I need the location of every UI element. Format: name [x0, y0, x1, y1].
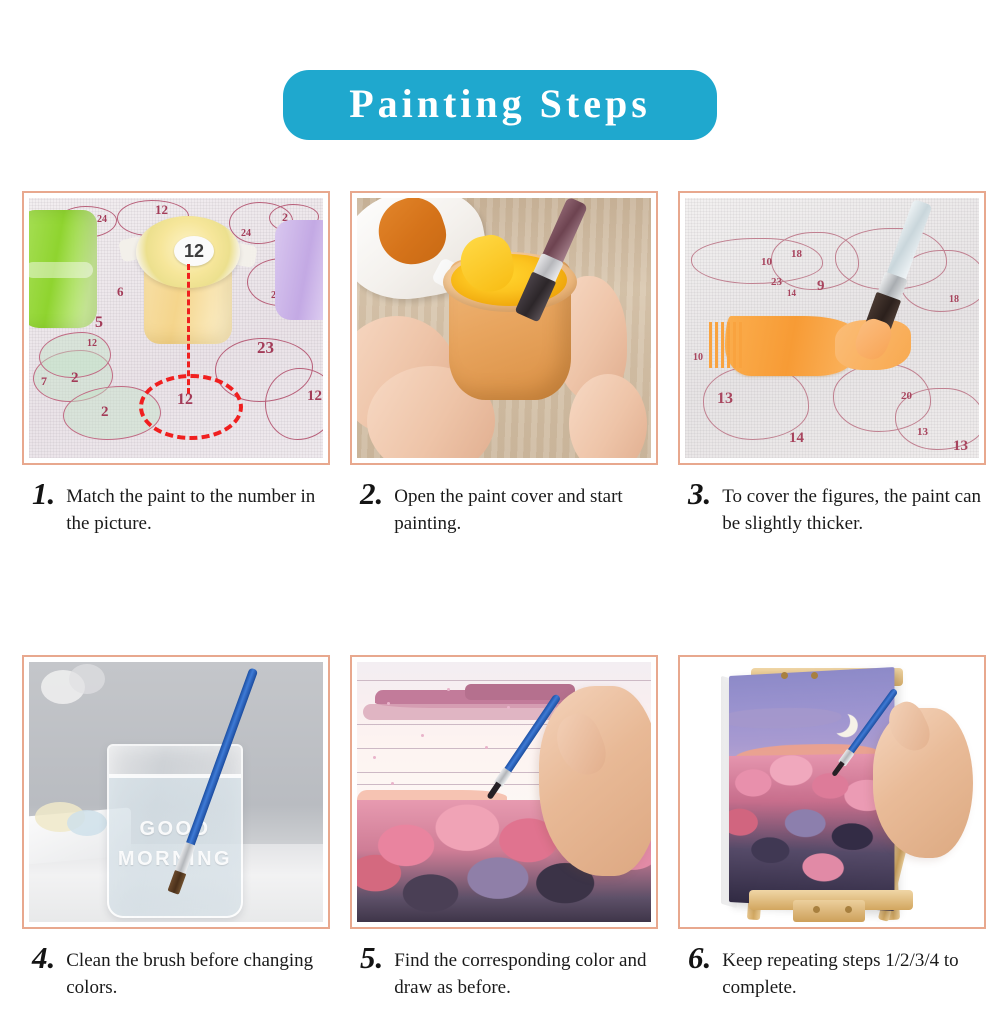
- painted-cherry-blossoms: [729, 753, 894, 911]
- canvas-number: 18: [791, 248, 802, 260]
- step-4-image: GOOD MORNING: [29, 662, 323, 922]
- step-4-photo-frame: GOOD MORNING: [22, 655, 330, 929]
- highlighted-canvas-number: 12: [177, 391, 193, 409]
- step-1-photo-frame: 12 24 2 7 6 24 5 23 12 2 7 2 25 12: [22, 191, 330, 465]
- number-marker-dot: [373, 756, 376, 759]
- step-1-text: Match the paint to the number in the pic…: [66, 481, 328, 537]
- step-card-2: 2. Open the paint cover and start painti…: [350, 191, 658, 560]
- canvas-number: 13: [717, 390, 733, 408]
- canvas-number: 23: [771, 276, 782, 288]
- steps-grid: 12 24 2 7 6 24 5 23 12 2 7 2 25 12: [22, 191, 986, 1024]
- step-6-number: 6.: [688, 945, 722, 971]
- step-2-number: 2.: [360, 481, 394, 507]
- step-card-6: 6. Keep repeating steps 1/2/3/4 to compl…: [678, 655, 986, 1024]
- easel-screw: [845, 906, 852, 913]
- step-6-text: Keep repeating steps 1/2/3/4 to complete…: [722, 945, 984, 1001]
- brush-bristles: [831, 761, 844, 777]
- step-6-caption: 6. Keep repeating steps 1/2/3/4 to compl…: [678, 929, 986, 1024]
- step-4-text: Clean the brush before changing colors.: [66, 945, 328, 1001]
- canvas-number: 2: [71, 370, 79, 387]
- number-marker-dot: [387, 702, 390, 705]
- number-marker-dot: [447, 688, 450, 691]
- step-4-caption: 4. Clean the brush before changing color…: [22, 929, 330, 1024]
- canvas-number: 12: [87, 338, 97, 349]
- number-marker-dot: [507, 706, 510, 709]
- step-5-image: [357, 662, 651, 922]
- background-object: [67, 810, 107, 836]
- step-2-text: Open the paint cover and start painting.: [394, 481, 656, 537]
- paint-pot-green: [29, 210, 97, 328]
- canvas-number: 10: [761, 256, 772, 268]
- easel-screw: [813, 906, 820, 913]
- canvas-region-outline: [357, 680, 651, 681]
- title-pill: Painting Steps: [283, 70, 717, 140]
- step-5-text: Find the corresponding color and draw as…: [394, 945, 656, 1001]
- canvas-number: 5: [95, 314, 103, 332]
- page-title: Painting Steps: [349, 84, 651, 124]
- canvas-number: 13: [917, 426, 928, 438]
- canvas-number: 23: [257, 338, 274, 358]
- easel-screw: [811, 672, 818, 679]
- step-1-image: 12 24 2 7 6 24 5 23 12 2 7 2 25 12: [29, 198, 323, 458]
- canvas-number: 14: [787, 288, 796, 298]
- finished-painting-canvas: [729, 667, 894, 911]
- brush-bristles: [486, 782, 501, 800]
- paint-pot-purple: [275, 220, 323, 320]
- canvas-number: 24: [97, 214, 107, 225]
- step-5-caption: 5. Find the corresponding color and draw…: [350, 929, 658, 1024]
- easel-tray-block: [793, 900, 865, 922]
- step-5-number: 5.: [360, 945, 394, 971]
- canvas-number: 2: [101, 404, 109, 421]
- step-5-photo-frame: [350, 655, 658, 929]
- step-card-1: 12 24 2 7 6 24 5 23 12 2 7 2 25 12: [22, 191, 330, 560]
- glass-text-line-1: GOOD: [109, 814, 241, 844]
- step-2-image: [357, 198, 651, 458]
- step-4-number: 4.: [32, 945, 66, 971]
- paint-pot-number-label: 12: [174, 236, 214, 266]
- step-2-caption: 2. Open the paint cover and start painti…: [350, 465, 658, 560]
- step-1-caption: 1. Match the paint to the number in the …: [22, 465, 330, 560]
- page-header: Painting Steps: [0, 70, 1000, 140]
- step-1-number: 1.: [32, 481, 66, 507]
- canvas-number: 14: [789, 430, 804, 447]
- step-3-number: 3.: [688, 481, 722, 507]
- step-3-text: To cover the figures, the paint can be s…: [722, 481, 984, 537]
- step-3-caption: 3. To cover the figures, the paint can b…: [678, 465, 986, 560]
- canvas-number: 7: [41, 374, 47, 389]
- number-marker-dot: [391, 782, 394, 785]
- number-marker-dot: [485, 746, 488, 749]
- easel-screw: [781, 672, 788, 679]
- number-marker-dot: [421, 734, 424, 737]
- canvas-number: 10: [693, 352, 703, 363]
- step-6-photo-frame: [678, 655, 986, 929]
- canvas-number: 12: [307, 388, 322, 405]
- canvas-number: 18: [949, 294, 959, 305]
- step-card-5: 5. Find the corresponding color and draw…: [350, 655, 658, 1024]
- step-card-3: 10 18 23 14 9 20 18 20 13 13 20 10 20 14…: [678, 191, 986, 560]
- canvas-number: 6: [117, 284, 124, 300]
- step-2-photo-frame: [350, 191, 658, 465]
- step-3-photo-frame: 10 18 23 14 9 20 18 20 13 13 20 10 20 14…: [678, 191, 986, 465]
- grid-row-spacer: [22, 560, 986, 655]
- step-6-image: [685, 662, 979, 922]
- background-object: [69, 664, 105, 694]
- step-card-4: GOOD MORNING 4. Clean the brush before c…: [22, 655, 330, 1024]
- canvas-number: 13: [953, 438, 968, 455]
- canvas-number: 20: [901, 390, 912, 402]
- canvas-number: 9: [817, 278, 825, 295]
- step-3-image: 10 18 23 14 9 20 18 20 13 13 20 10 20 14…: [685, 198, 979, 458]
